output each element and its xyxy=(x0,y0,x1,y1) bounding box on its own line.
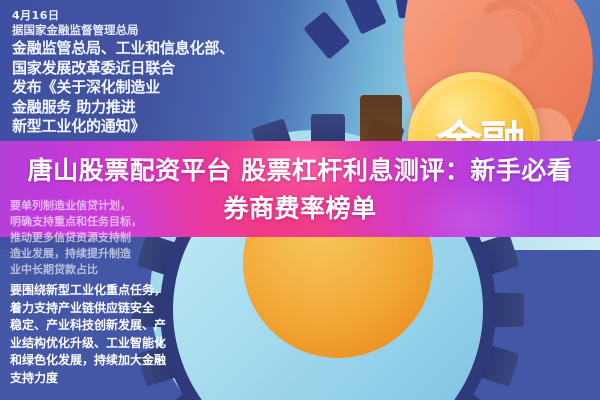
news-body: 金融监管总局、工业和信息化部、 国家发展改革委近日联合 发布《关于深化制造业 金… xyxy=(12,39,342,137)
note-solid-line: 支持力度 xyxy=(10,370,225,388)
banner-image: 金融 4月16日 据国家金融监督管理总局 金融监管总局、工业和信息化部、 国家发… xyxy=(0,0,600,400)
news-body-line: 发布《关于深化制造业 xyxy=(12,78,342,98)
news-body-line: 金融服务 助力推进 xyxy=(12,98,342,118)
news-body-line: 新型工业化的通知》 xyxy=(12,117,342,137)
note-faint-line: 造业发展，持续提升制造 xyxy=(10,246,200,262)
note-solid-line: 着力支持产业链供应链安全 xyxy=(10,300,225,318)
note-faint-line: 推动更多信贷资源支持制 xyxy=(10,230,200,246)
note-solid-line: 稳定、产业科技创新发展、产 xyxy=(10,317,225,335)
headline-line-1: 唐山股票配资平台 股票杠杆利息测评：新手必看 xyxy=(0,152,600,190)
news-body-line: 国家发展改革委近日联合 xyxy=(12,59,342,79)
news-text-block: 据国家金融监督管理总局 金融监管总局、工业和信息化部、 国家发展改革委近日联合 … xyxy=(12,22,342,137)
news-body-line: 金融监管总局、工业和信息化部、 xyxy=(12,39,342,59)
note-solid-line: 要围绕新型工业化重点任务， xyxy=(10,282,225,300)
note-solid-line: 业结构优化升级、工业智能化 xyxy=(10,335,225,353)
note-solid-block: 要围绕新型工业化重点任务， 着力支持产业链供应链安全 稳定、产业科技创新发展、产… xyxy=(10,282,225,387)
headline-line-2: 券商费率榜单 xyxy=(0,190,600,228)
news-lead: 据国家金融监督管理总局 xyxy=(12,22,342,39)
headline-overlay: 唐山股票配资平台 股票杠杆利息测评：新手必看 券商费率榜单 xyxy=(0,152,600,228)
note-solid-line: 和绿色化发展，持续加大金融 xyxy=(10,352,225,370)
news-date: 4月16日 xyxy=(12,7,59,23)
note-faint-line: 业中长期贷款占比 xyxy=(10,262,200,278)
